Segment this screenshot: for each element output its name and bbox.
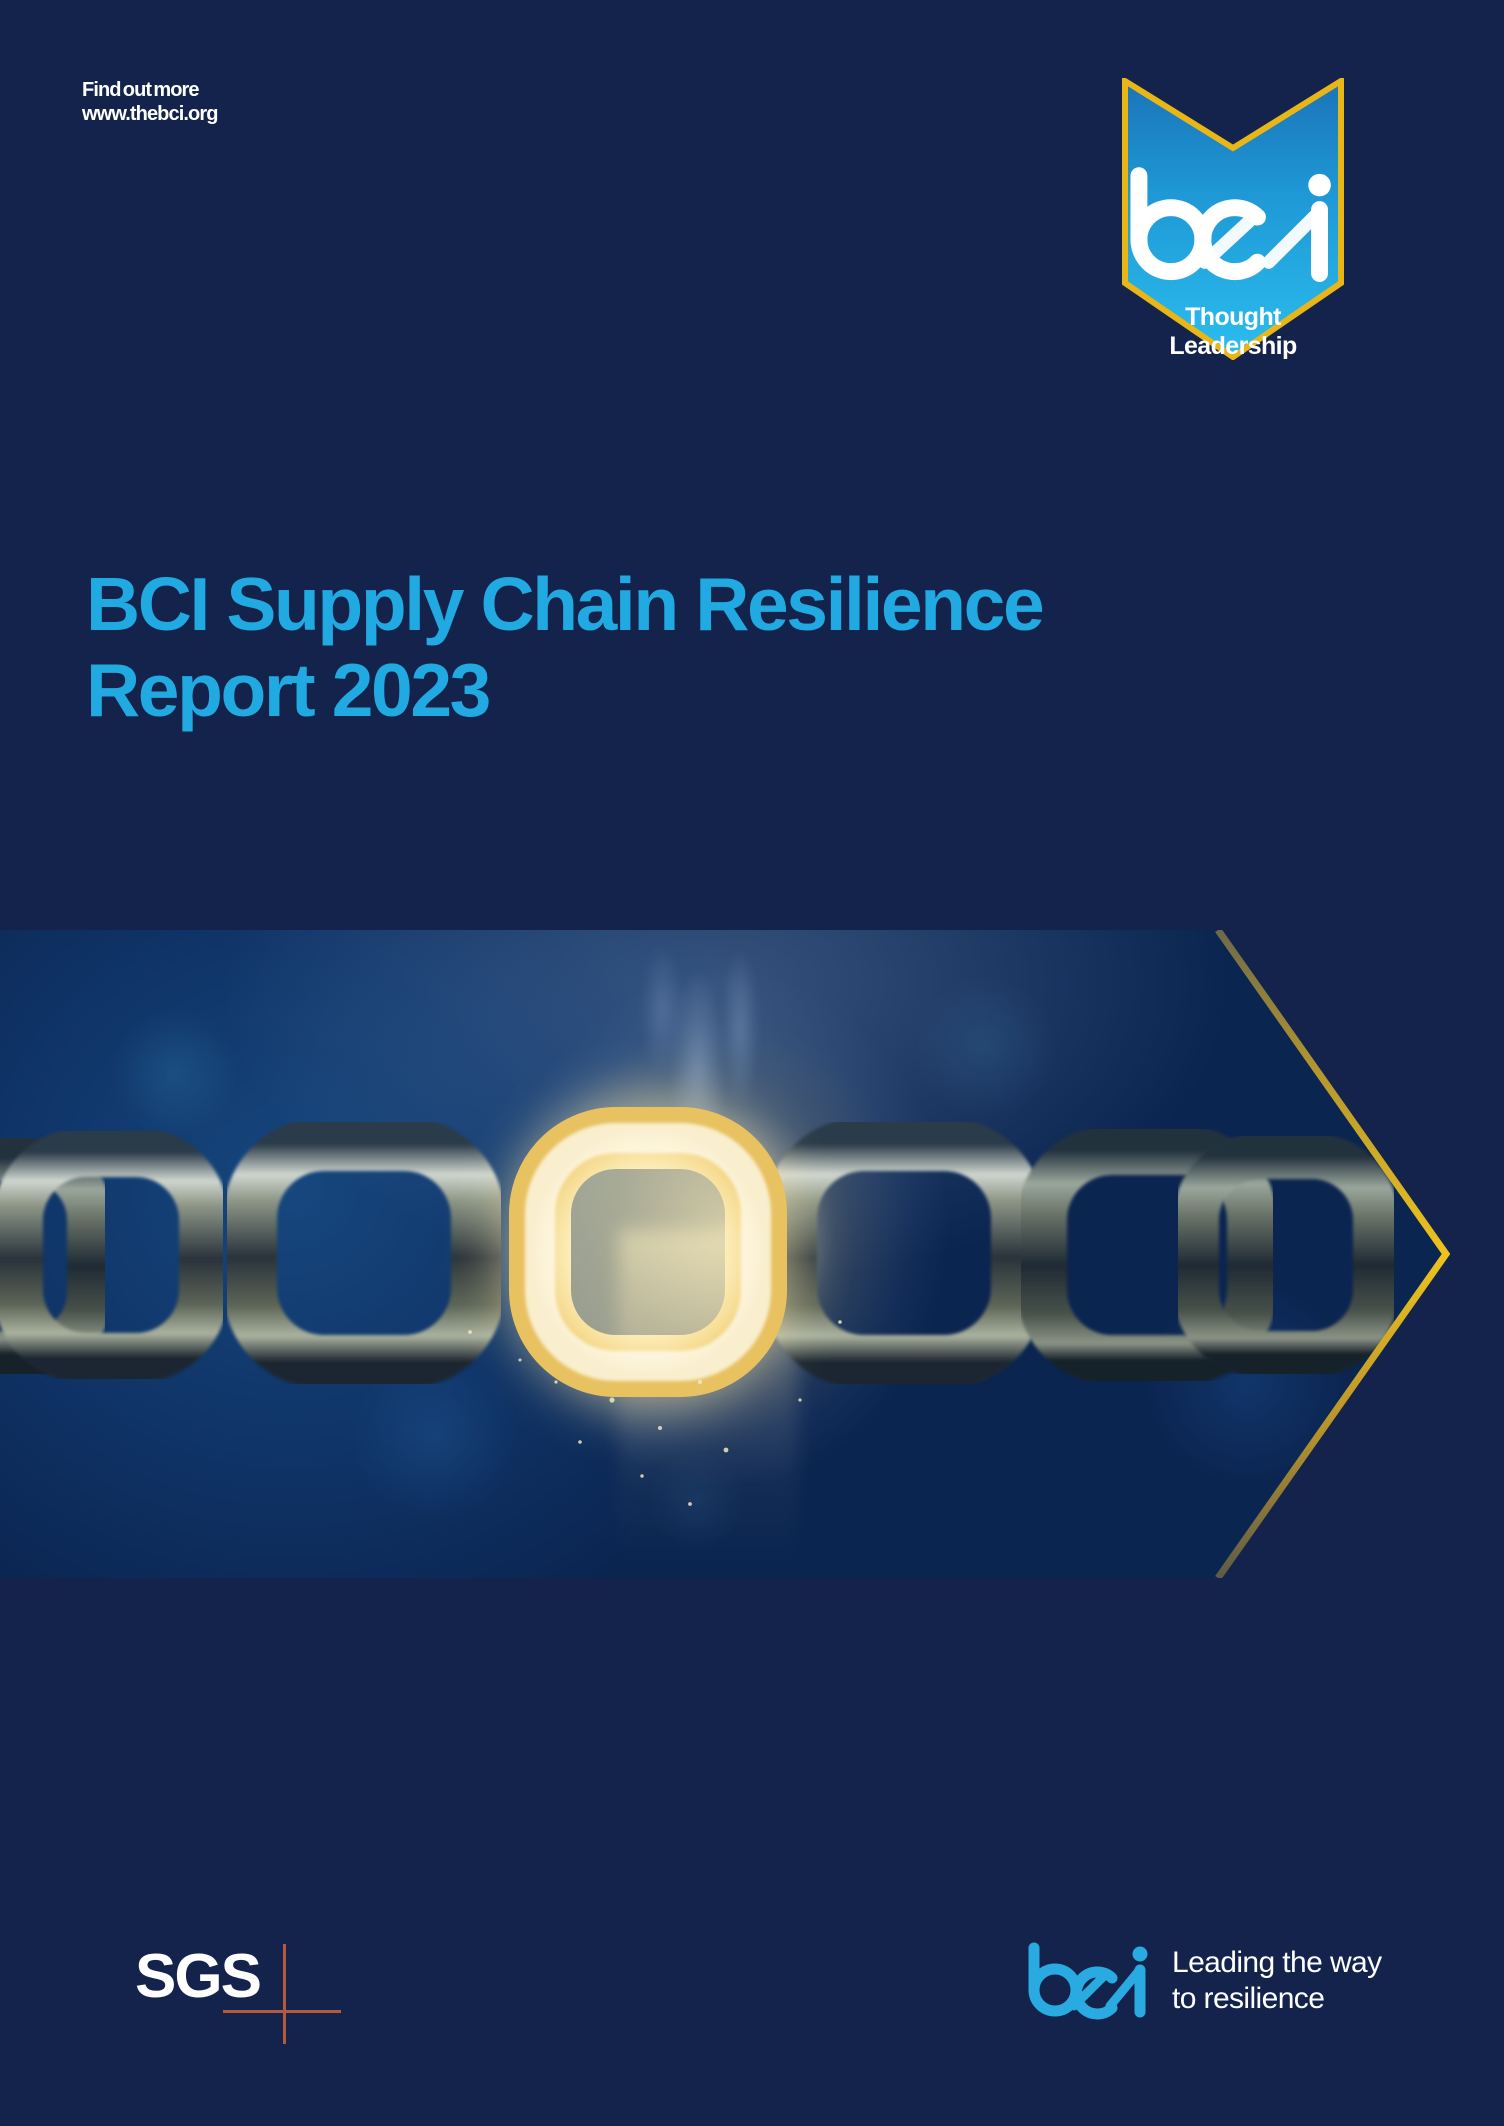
- bci-tagline-line1: Leading the way: [1172, 1945, 1382, 1981]
- sgs-wordmark: SGS: [135, 1946, 260, 2008]
- report-cover: Find out more www.thebci.org: [0, 0, 1504, 2126]
- find-out-more-url[interactable]: www.thebci.org: [82, 102, 218, 126]
- bci-logo-icon: [1024, 1942, 1154, 2020]
- cover-image: [0, 930, 1450, 1578]
- shield-shape-icon: [1122, 78, 1344, 360]
- title-line-1: BCI Supply Chain Resilience: [86, 562, 1266, 648]
- chain-illustration-icon: [0, 930, 1450, 1578]
- page-title: BCI Supply Chain Resilience Report 2023: [86, 562, 1266, 733]
- cover-image-photo: [0, 930, 1450, 1578]
- bci-tagline-line2: to resilience: [1172, 1981, 1382, 2017]
- title-line-2: Report 2023: [86, 648, 1266, 734]
- bci-footer-logo: Leading the way to resilience: [1024, 1942, 1382, 2020]
- sgs-vertical-rule: [283, 1944, 286, 2044]
- thought-leadership-badge: Thought Leadership: [1122, 78, 1344, 360]
- bci-tagline: Leading the way to resilience: [1172, 1945, 1382, 2017]
- sgs-logo: SGS: [135, 1944, 307, 2044]
- sgs-horizontal-rule: [223, 2010, 341, 2013]
- find-out-more-block: Find out more www.thebci.org: [82, 78, 218, 127]
- find-out-more-label: Find out more: [82, 78, 218, 102]
